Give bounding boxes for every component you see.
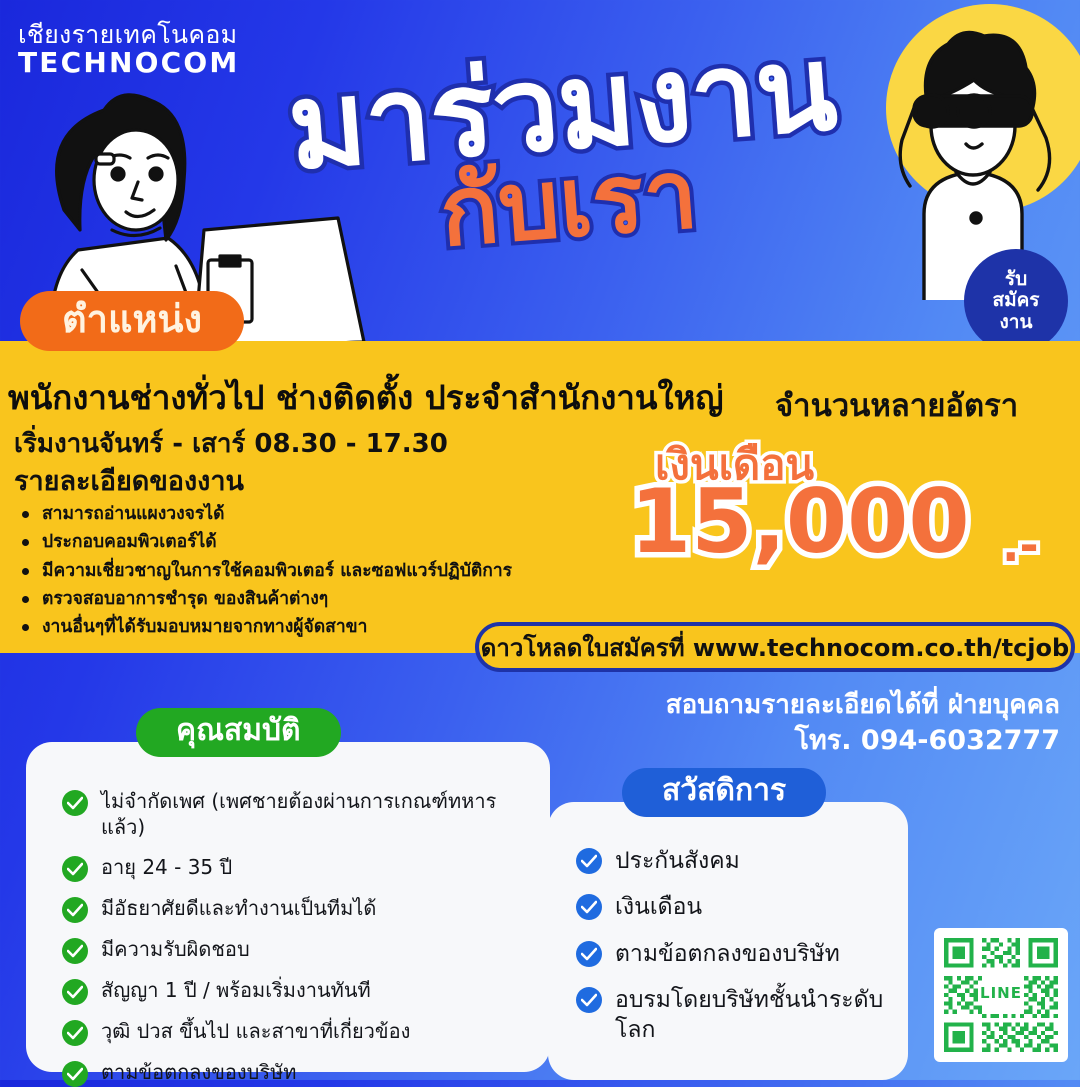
poster-root: เชียงรายเทคโนคอม TECHNOCOM มาร่วมงาน กับ…: [0, 0, 1080, 1080]
apply-now-badge: รับ สมัคร งาน: [964, 249, 1068, 353]
work-hours: เริ่มงานจันทร์ - เสาร์ 08.30 - 17.30: [14, 423, 448, 464]
list-item: ประกอบคอมพิวเตอร์ได้: [20, 528, 580, 556]
qualifications-list: ไม่จำกัดเพศ (เพศชายต้องผ่านการเกณฑ์ทหารแ…: [62, 788, 532, 1087]
apply-badge-line-3: งาน: [1000, 312, 1033, 333]
benefit-text: ประกันสังคม: [615, 846, 740, 876]
headcount-text: จำนวนหลายอัตรา: [775, 380, 1018, 430]
check-icon: [62, 1020, 88, 1046]
check-icon: [576, 987, 602, 1013]
qualifications-badge: คุณสมบัติ: [136, 708, 341, 757]
check-icon: [62, 897, 88, 923]
logo-english-name: TECHNOCOM: [18, 48, 239, 77]
qualification-text: สัญญา 1 ปี / พร้อมเริ่มงานทันที: [101, 977, 371, 1003]
brand-logo: เชียงรายเทคโนคอม TECHNOCOM: [18, 22, 239, 78]
line-qr-code[interactable]: LINE: [934, 928, 1068, 1062]
check-icon: [62, 856, 88, 882]
check-icon: [62, 979, 88, 1005]
check-icon: [576, 894, 602, 920]
contact-info: สอบถามรายละเอียดได้ที่ ฝ่ายบุคคล โทร. 09…: [560, 688, 1060, 760]
job-details-list: สามารถอ่านแผงวงจรได้ ประกอบคอมพิวเตอร์ได…: [20, 500, 580, 642]
benefits-card: ประกันสังคม เงินเดือน ตามข้อตกลงของบริษั…: [548, 802, 908, 1080]
list-item: สามารถอ่านแผงวงจรได้: [20, 500, 580, 528]
qualification-text: ไม่จำกัดเพศ (เพศชายต้องผ่านการเกณฑ์ทหารแ…: [101, 788, 532, 841]
qualification-text: อายุ 24 - 35 ปี: [101, 854, 232, 880]
list-item: เงินเดือน: [576, 892, 890, 922]
list-item: ไม่จำกัดเพศ (เพศชายต้องผ่านการเกณฑ์ทหารแ…: [62, 788, 532, 841]
position-badge: ตำแหน่ง: [20, 291, 244, 351]
contact-department: สอบถามรายละเอียดได้ที่ ฝ่ายบุคคล: [560, 688, 1060, 723]
logo-thai-name: เชียงรายเทคโนคอม: [18, 22, 239, 48]
qualification-text: มีความรับผิดชอบ: [101, 936, 250, 962]
check-icon: [576, 848, 602, 874]
list-item: วุฒิ ปวส ขึ้นไป และสาขาที่เกี่ยวข้อง: [62, 1018, 532, 1046]
apply-badge-line-1: รับ: [1005, 269, 1027, 290]
check-icon: [576, 941, 602, 967]
list-item: ตามข้อตกลงของบริษัท: [576, 939, 890, 969]
list-item: ตรวจสอบอาการชำรุด ของสินค้าต่างๆ: [20, 585, 580, 613]
list-item: ตามข้อตกลงของบริษัท: [62, 1059, 532, 1087]
list-item: อบรมโดยบริษัทชั้นนำระดับโลก: [576, 985, 890, 1046]
list-item: อายุ 24 - 35 ปี: [62, 854, 532, 882]
benefit-text: อบรมโดยบริษัทชั้นนำระดับโลก: [615, 985, 890, 1046]
list-item: มีอัธยาศัยดีและทำงานเป็นทีมได้: [62, 895, 532, 923]
apply-badge-line-2: สมัคร: [992, 290, 1039, 311]
download-application-link[interactable]: ดาวโหลดใบสมัครที่ www.technocom.co.th/tc…: [475, 622, 1075, 672]
qr-line-label: LINE: [934, 984, 1068, 1002]
qualifications-card: ไม่จำกัดเพศ (เพศชายต้องผ่านการเกณฑ์ทหารแ…: [26, 742, 550, 1072]
list-item: มีความเชี่ยวชาญในการใช้คอมพิวเตอร์ และซอ…: [20, 557, 580, 585]
job-details-heading: รายละเอียดของงาน: [14, 459, 244, 502]
qualification-text: ตามข้อตกลงของบริษัท: [101, 1059, 296, 1085]
salary-baht-mark: .-: [1002, 518, 1039, 572]
qualification-text: วุฒิ ปวส ขึ้นไป และสาขาที่เกี่ยวข้อง: [101, 1018, 410, 1044]
position-title: พนักงานช่างทั่วไป ช่างติดตั้ง ประจำสำนัก…: [8, 371, 778, 424]
benefits-list: ประกันสังคม เงินเดือน ตามข้อตกลงของบริษั…: [576, 846, 890, 1062]
list-item: มีความรับผิดชอบ: [62, 936, 532, 964]
check-icon: [62, 1061, 88, 1087]
check-icon: [62, 790, 88, 816]
qualification-text: มีอัธยาศัยดีและทำงานเป็นทีมได้: [101, 895, 376, 921]
salary-amount: 15,000: [630, 478, 970, 566]
benefit-text: เงินเดือน: [615, 892, 702, 922]
benefits-badge: สวัสดิการ: [622, 768, 826, 817]
contact-phone: โทร. 094-6032777: [560, 723, 1060, 759]
list-item: สัญญา 1 ปี / พร้อมเริ่มงานทันที: [62, 977, 532, 1005]
check-icon: [62, 938, 88, 964]
list-item: ประกันสังคม: [576, 846, 890, 876]
benefit-text: ตามข้อตกลงของบริษัท: [615, 939, 840, 969]
headline: มาร่วมงาน กับเรา: [209, 27, 922, 275]
